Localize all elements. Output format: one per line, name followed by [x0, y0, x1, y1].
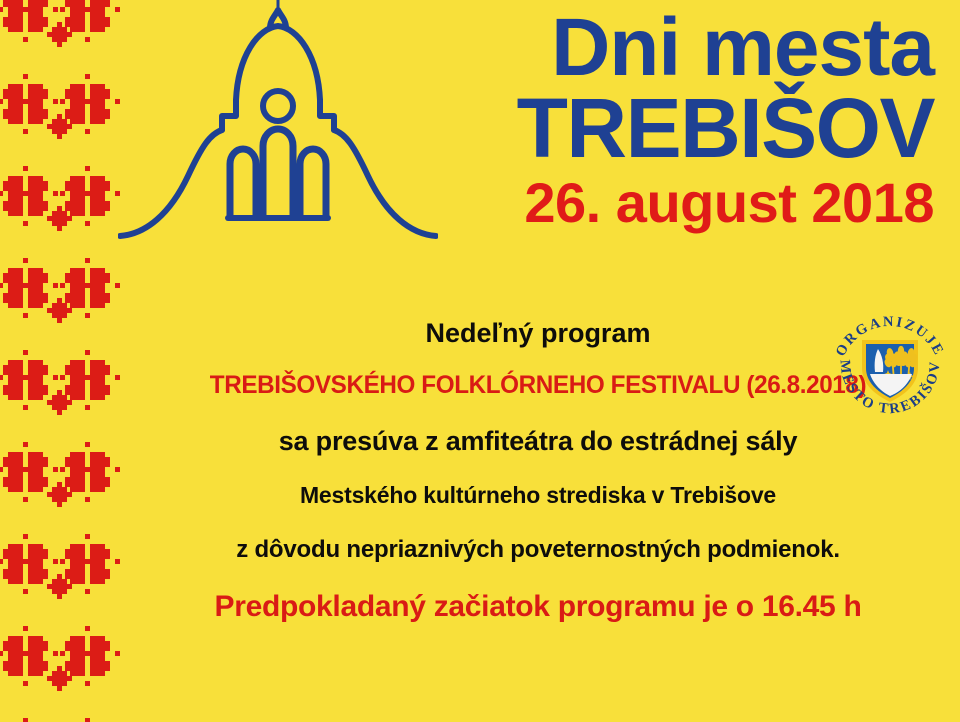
body-line-venue: Mestského kultúrneho strediska v Trebišo… [122, 482, 954, 509]
folk-embroidery-border [0, 0, 122, 722]
body-line-reason: z dôvodu nepriaznivých poveternostných p… [122, 536, 954, 564]
poster-canvas: Dni mesta TREBIŠOV 26. august 2018 Nedeľ… [0, 0, 960, 722]
body-line-festival-name: TREBIŠOVSKÉHO FOLKLÓRNEHO FESTIVALU (26.… [134, 371, 941, 400]
body-line-relocation: sa presúva z amfiteátra do estrádnej sál… [122, 426, 954, 457]
headline-date: 26. august 2018 [517, 174, 934, 233]
headline-line-trebisov: TREBIŠOV [517, 86, 934, 172]
poster-headline: Dni mesta TREBIŠOV 26. august 2018 [517, 8, 934, 233]
church-dome-illustration [118, 0, 438, 246]
town-coat-of-arms [862, 340, 918, 402]
headline-line-dni-mesta: Dni mesta [517, 8, 934, 88]
body-line-start-time: Predpokladaný začiatok programu je o 16.… [122, 590, 954, 624]
organizer-seal: ORGANIZUJE MESTO TREBIŠOV [828, 306, 952, 430]
